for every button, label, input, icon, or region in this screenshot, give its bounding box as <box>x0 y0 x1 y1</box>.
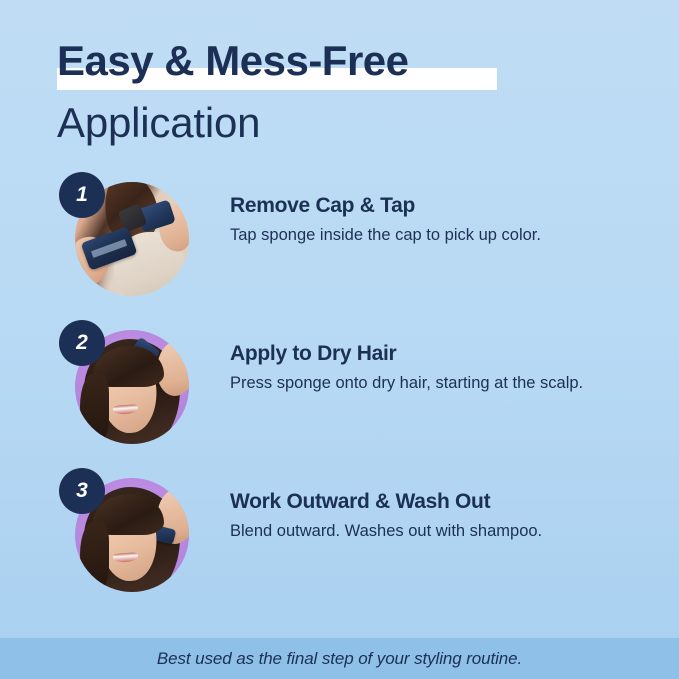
steps-list: 1 Remove Cap & Tap Tap sponge inside the… <box>0 178 679 622</box>
step-thumbnail-wrap: 2 <box>75 330 189 444</box>
step-thumbnail-wrap: 3 <box>75 478 189 592</box>
infographic-card: Easy & Mess-Free Application <box>0 0 679 679</box>
photo-bottle-label-shape <box>91 240 127 258</box>
step-item: 1 Remove Cap & Tap Tap sponge inside the… <box>0 178 679 326</box>
step-thumbnail-wrap: 1 <box>75 182 189 296</box>
step-number-badge: 1 <box>59 172 105 218</box>
photo-hair-side-shape <box>80 373 110 444</box>
step-item: 3 Work Outward & Wash Out Blend outward.… <box>0 474 679 622</box>
step-body: Blend outward. Washes out with shampoo. <box>230 519 630 543</box>
step-heading: Remove Cap & Tap <box>230 194 630 218</box>
step-heading: Work Outward & Wash Out <box>230 490 630 514</box>
page-title: Easy & Mess-Free Application <box>57 38 617 148</box>
step-item: 2 Apply to Dry Hair Press sponge onto dr… <box>0 326 679 474</box>
step-number-badge: 3 <box>59 468 105 514</box>
step-text-block: Apply to Dry Hair Press sponge onto dry … <box>230 342 630 395</box>
step-number-badge: 2 <box>59 320 105 366</box>
step-text-block: Remove Cap & Tap Tap sponge inside the c… <box>230 194 630 247</box>
photo-hair-side-shape <box>80 521 110 592</box>
title-line2: Application <box>57 98 617 148</box>
step-heading: Apply to Dry Hair <box>230 342 630 366</box>
footer-banner: Best used as the final step of your styl… <box>0 638 679 679</box>
step-text-block: Work Outward & Wash Out Blend outward. W… <box>230 490 630 543</box>
title-line1-container: Easy & Mess-Free <box>57 38 617 92</box>
step-body: Press sponge onto dry hair, starting at … <box>230 371 630 395</box>
step-body: Tap sponge inside the cap to pick up col… <box>230 223 630 247</box>
title-line1: Easy & Mess-Free <box>57 38 409 84</box>
footer-text: Best used as the final step of your styl… <box>157 649 522 669</box>
